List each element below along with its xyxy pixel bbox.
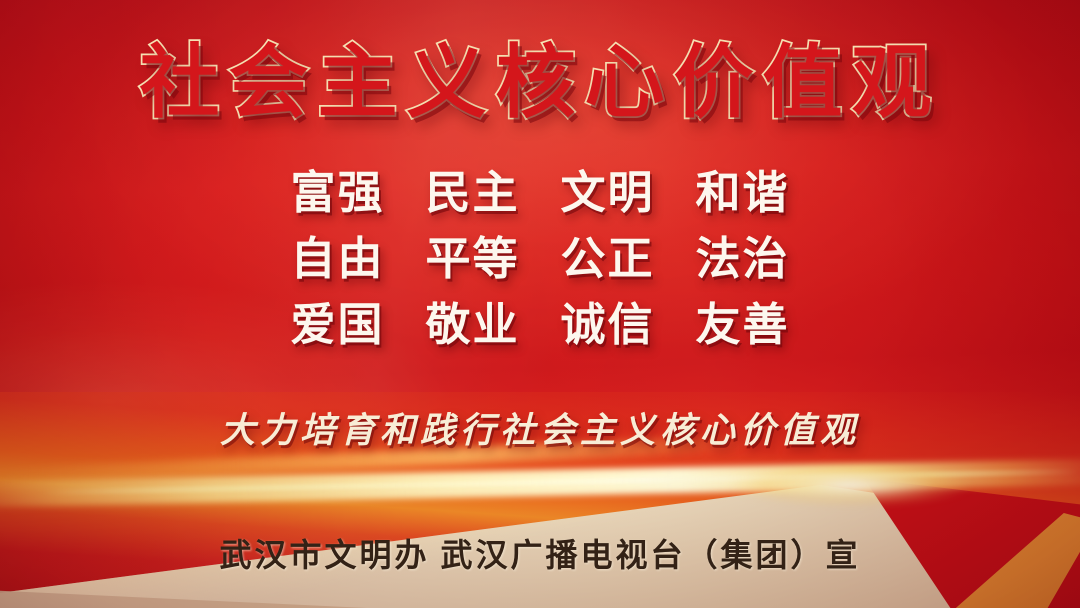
core-value-word: 友善 [675, 294, 810, 356]
core-value-word: 公正 [540, 228, 675, 290]
core-value-word: 民主 [405, 162, 540, 224]
core-values-row: 富强 民主 文明 和谐 [270, 162, 810, 224]
poster-headline: 社会主义核心价值观 [0, 38, 1080, 128]
core-value-word: 平等 [405, 228, 540, 290]
poster-attribution: 武汉市文明办 武汉广播电视台（集团）宣 [0, 531, 1080, 579]
core-values-row: 自由 平等 公正 法治 [270, 228, 810, 290]
poster-canvas: 社会主义核心价值观 富强 民主 文明 和谐 自由 平等 公正 法治 爱国 敬业 … [0, 0, 1080, 608]
core-value-word: 法治 [675, 228, 810, 290]
poster-slogan: 大力培育和践行社会主义核心价值观 [0, 406, 1080, 456]
core-value-word: 和谐 [675, 162, 810, 224]
core-value-word: 自由 [270, 228, 405, 290]
core-value-word: 敬业 [405, 294, 540, 356]
core-values-row: 爱国 敬业 诚信 友善 [270, 294, 810, 356]
core-value-word: 诚信 [540, 294, 675, 356]
core-value-word: 富强 [270, 162, 405, 224]
core-value-word: 爱国 [270, 294, 405, 356]
poster-content: 社会主义核心价值观 富强 民主 文明 和谐 自由 平等 公正 法治 爱国 敬业 … [0, 0, 1080, 608]
core-values-block: 富强 民主 文明 和谐 自由 平等 公正 法治 爱国 敬业 诚信 友善 [0, 162, 1080, 356]
core-value-word: 文明 [540, 162, 675, 224]
